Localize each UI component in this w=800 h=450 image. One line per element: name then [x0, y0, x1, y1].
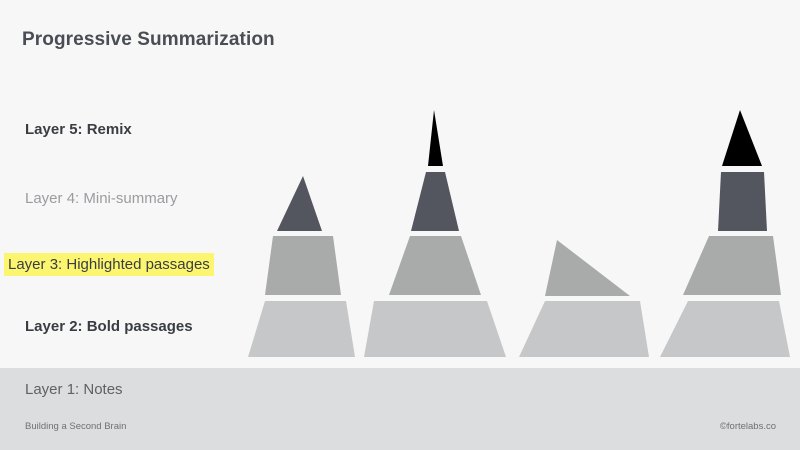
layer-label-text: Layer 5: Remix: [22, 119, 135, 140]
pyramid-4-tier-layer-3: [683, 236, 781, 295]
pyramid-3-tier-layer-3: [545, 240, 630, 296]
pyramid-1-tier-layer-2: [248, 301, 355, 357]
layer-label-text: Layer 1: Notes: [22, 379, 126, 400]
pyramid-2: [364, 110, 506, 357]
layer-label-text-highlighted: Layer 3: Highlighted passages: [4, 253, 214, 276]
layer-label-layer-2: Layer 2: Bold passages: [22, 318, 196, 337]
pyramid-4: [660, 110, 790, 357]
pyramid-4-tier-layer-4: [718, 172, 767, 231]
layer-label-text: Layer 2: Bold passages: [22, 316, 196, 337]
layer-label-layer-1: Layer 1: Notes: [22, 381, 126, 400]
layer-label-layer-4: Layer 4: Mini-summary: [22, 190, 181, 209]
pyramid-4-tier-layer-5: [722, 110, 762, 166]
pyramid-1-tier-layer-3: [265, 236, 341, 295]
layer-label-layer-3: Layer 3: Highlighted passages: [4, 256, 214, 275]
pyramid-2-tier-layer-3: [389, 236, 481, 295]
pyramid-2-tier-layer-5: [428, 110, 443, 166]
footer-copyright: ©fortelabs.co: [720, 421, 776, 432]
pyramid-2-tier-layer-4: [411, 172, 459, 231]
pyramid-2-tier-layer-2: [364, 301, 506, 357]
slide-canvas: Progressive Summarization Layer 5: Remix…: [0, 0, 800, 450]
pyramid-1: [248, 176, 355, 357]
layer-label-text: Layer 4: Mini-summary: [22, 188, 181, 209]
pyramid-3-tier-layer-2: [519, 301, 649, 357]
footer-attribution: Building a Second Brain: [25, 421, 126, 432]
pyramid-3: [519, 240, 649, 357]
pyramid-1-tier-layer-3: [277, 176, 322, 231]
layer-label-layer-5: Layer 5: Remix: [22, 121, 135, 140]
pyramid-4-tier-layer-2: [660, 301, 790, 357]
